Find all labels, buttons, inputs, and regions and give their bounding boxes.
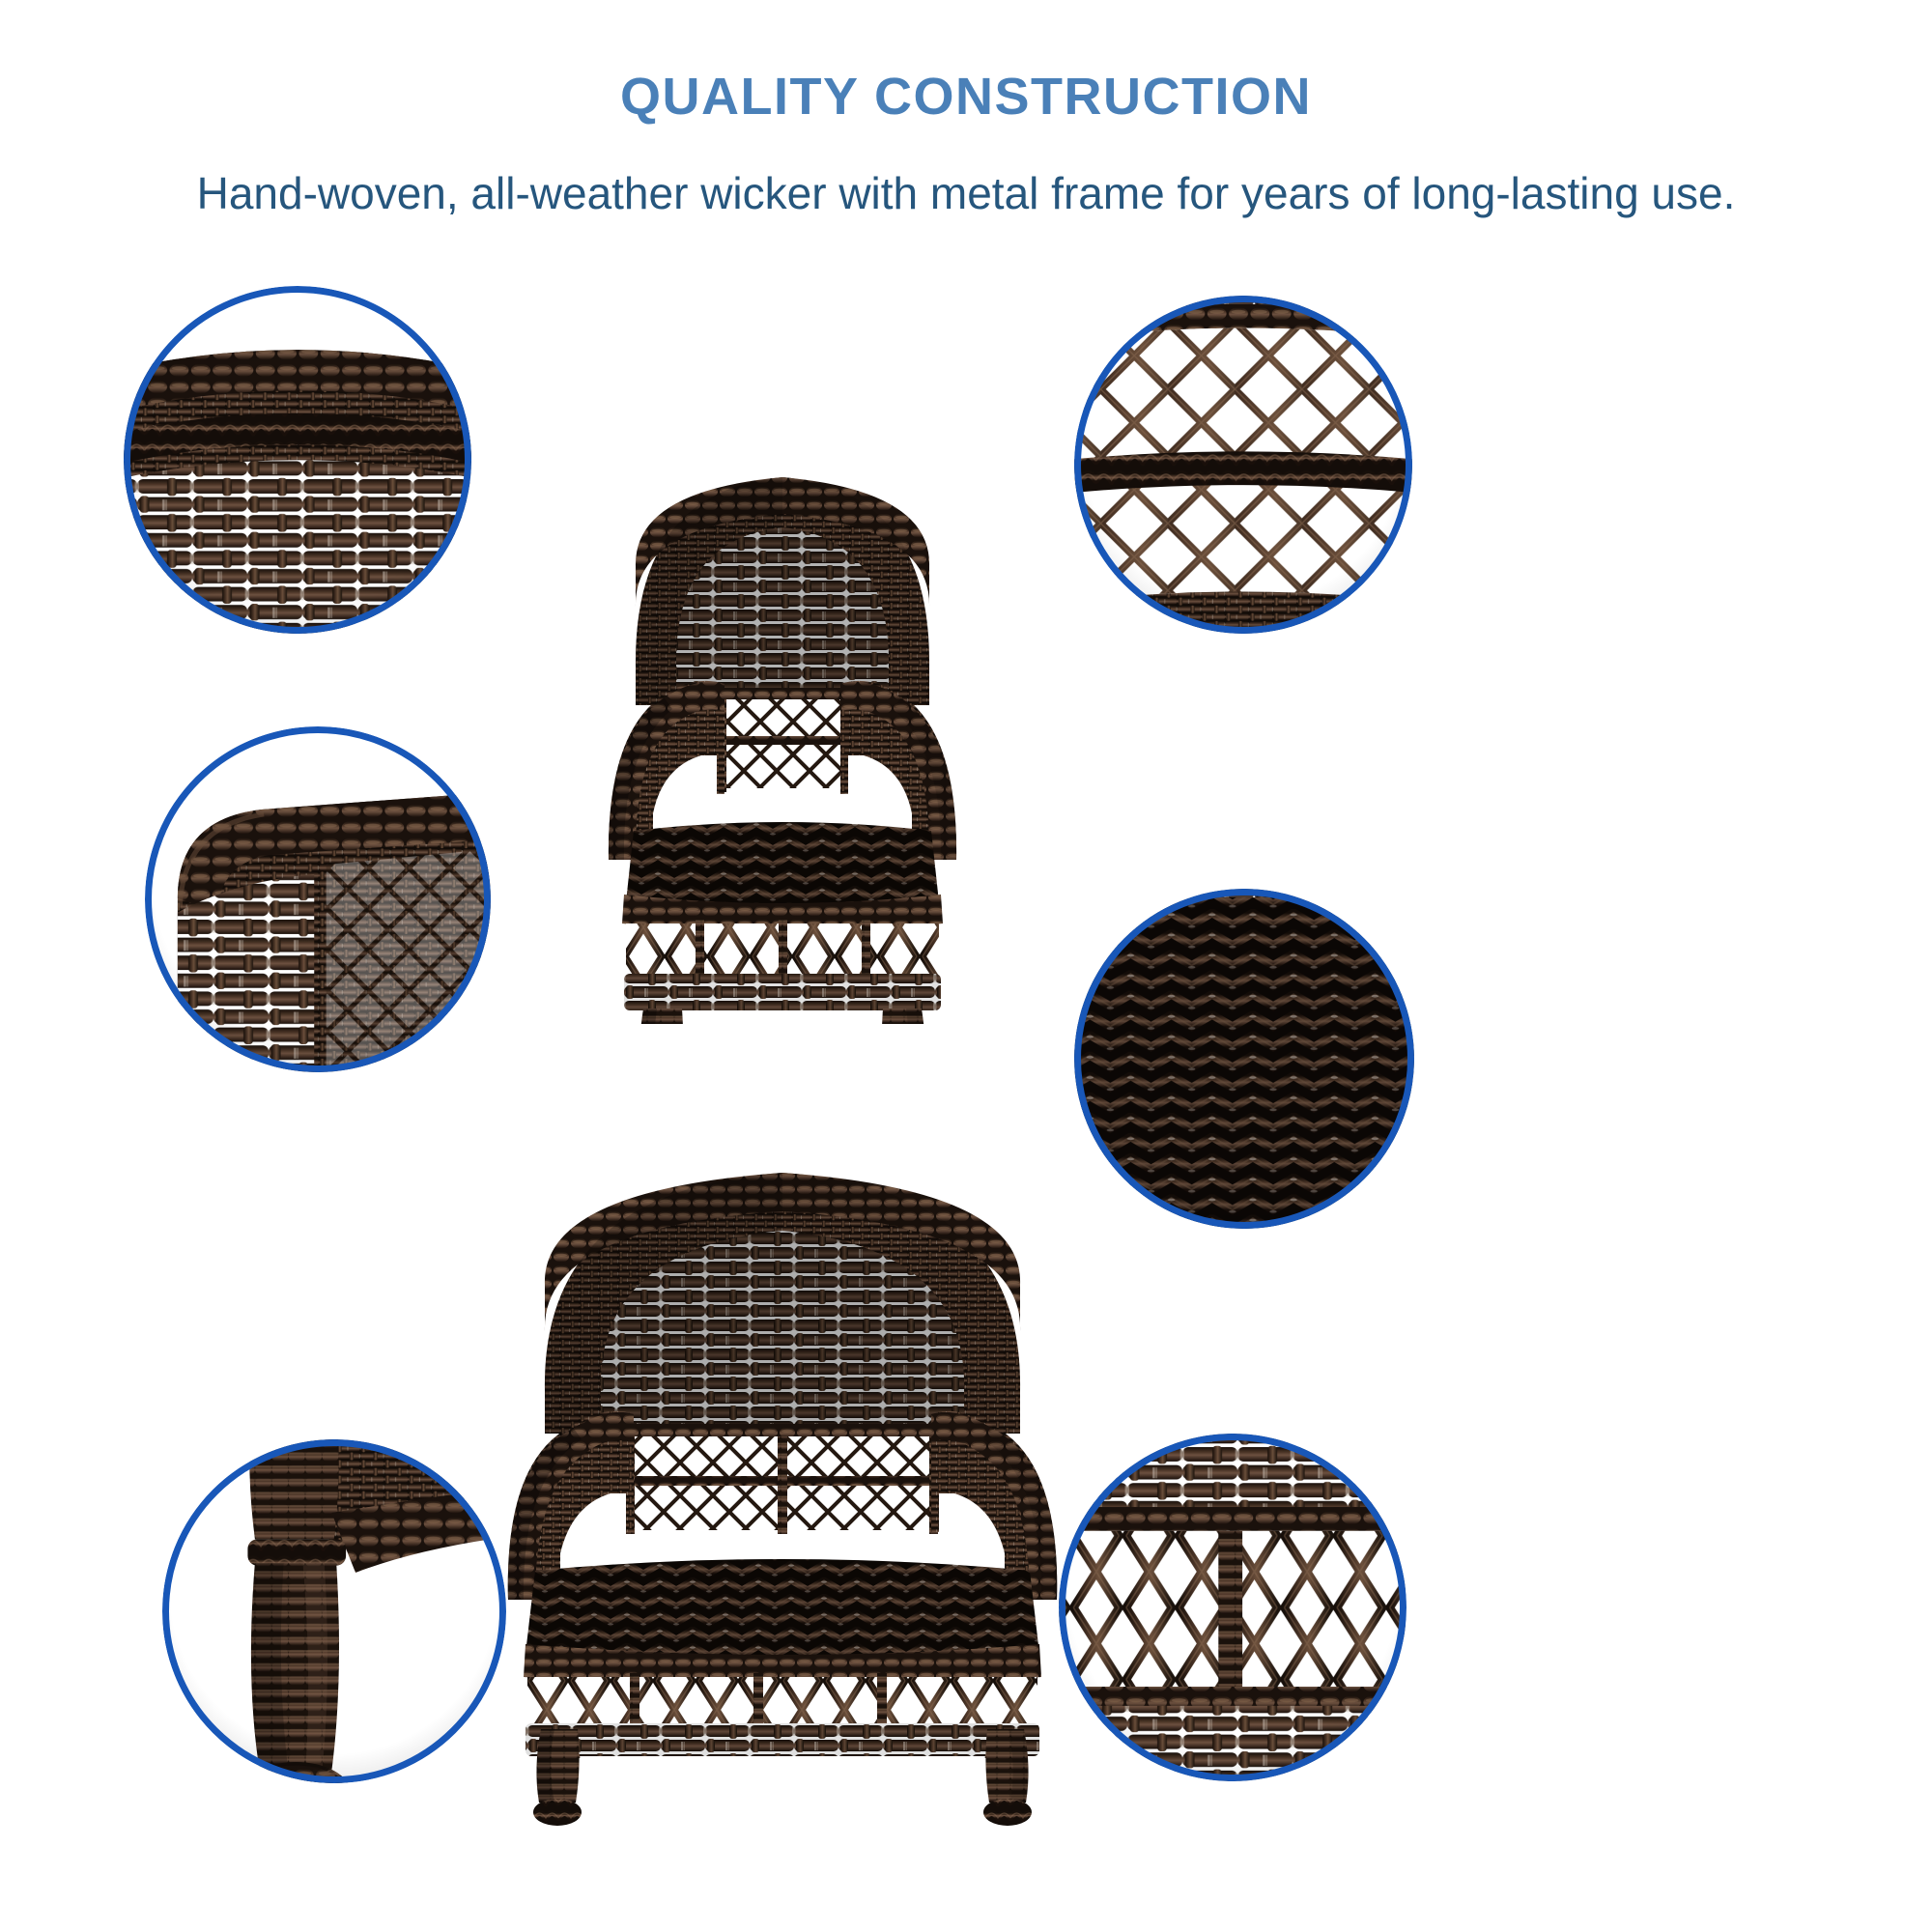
infographic-canvas: QUALITY CONSTRUCTION Hand-woven, all-wea… <box>0 0 1932 1932</box>
basket-weave-x-lattice-texture <box>1059 1434 1406 1781</box>
armrest-corner-weave-texture <box>145 726 491 1072</box>
product-loveseat <box>483 1101 1082 1758</box>
wicker-loveseat-illustration <box>483 1101 1082 1758</box>
callout-mid-right <box>1074 889 1414 1229</box>
loveseat-ball-feet <box>483 1729 1082 1845</box>
callout-mid-left-image <box>145 726 491 1072</box>
flat-weave-back-panel-texture <box>124 286 471 634</box>
callout-top-left-image <box>124 286 471 634</box>
page-subtitle: Hand-woven, all-weather wicker with meta… <box>0 125 1932 220</box>
callout-bottom-right <box>1059 1434 1406 1781</box>
callout-bottom-right-image <box>1059 1434 1406 1781</box>
callout-top-left <box>124 286 471 634</box>
wicker-armchair-illustration <box>580 377 985 1024</box>
callout-top-right <box>1074 296 1412 634</box>
callout-mid-right-image <box>1074 889 1414 1229</box>
herringbone-seat-weave-texture <box>1074 889 1414 1229</box>
callout-mid-left <box>145 726 491 1072</box>
tapered-leg-ball-foot-texture <box>162 1439 506 1783</box>
product-chair <box>580 377 985 1024</box>
loveseat-feet <box>483 1729 1082 1845</box>
page-title: QUALITY CONSTRUCTION <box>0 0 1932 125</box>
callout-bottom-left <box>162 1439 506 1783</box>
header: QUALITY CONSTRUCTION Hand-woven, all-wea… <box>0 0 1932 220</box>
callout-top-right-image <box>1074 296 1412 634</box>
diamond-lattice-openwork-texture <box>1074 296 1412 634</box>
callout-bottom-left-image <box>162 1439 506 1783</box>
